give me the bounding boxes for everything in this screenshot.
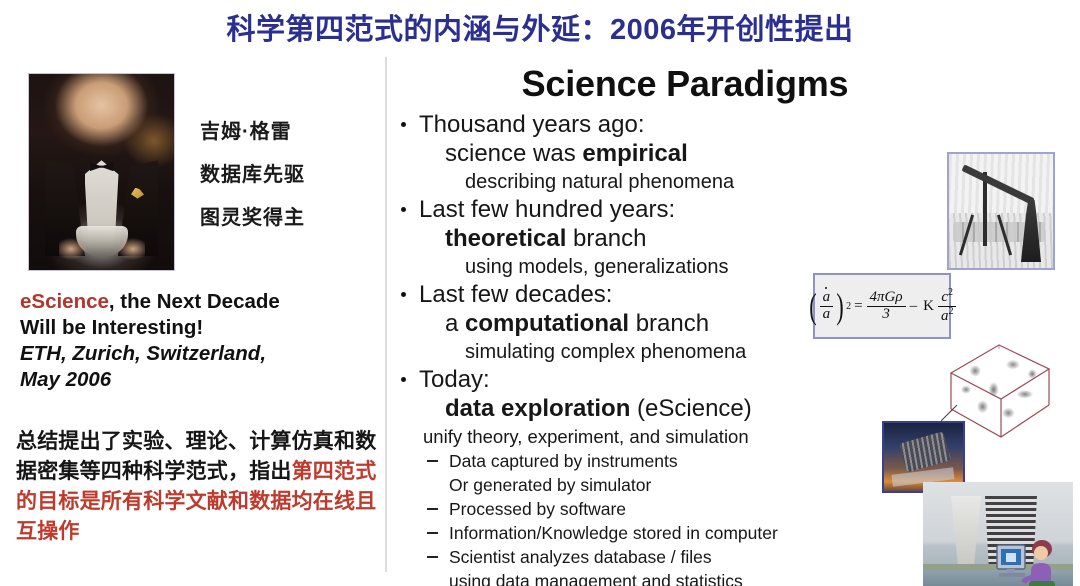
talk-date: May 2006 (20, 367, 380, 393)
dash-icon (427, 508, 438, 510)
equation-curvature-constant: K (923, 298, 934, 315)
left-column: 吉姆·格雷 数据库先驱 图灵奖得主 eScience, the Next Dec… (0, 57, 385, 586)
equation-rhs2-denominator: a2 (938, 307, 957, 324)
bullet-detail-keyword: computational (465, 310, 629, 337)
talk-title-line2: Will be Interesting! (20, 315, 380, 341)
bullet-lead: Last few hundred years: (419, 196, 675, 223)
equation-rhs1-denominator: 3 (879, 307, 893, 322)
bullet-dot-icon (401, 292, 406, 297)
summary-block: 总结提出了实验、理论、计算仿真和数据密集等四种科学范式，指出第四范式的目标是所有… (16, 427, 382, 547)
sub-bullet-item: Scientist analyzes database / files (393, 545, 863, 569)
equation-lhs-fraction: a a (820, 290, 834, 322)
equation-equals-sign: = (854, 298, 862, 315)
slide-canvas: 科学第四范式的内涵与外延：2006年开创性提出 吉姆·格雷 数据库先驱 图灵奖得… (0, 0, 1080, 586)
bullet-subdetail: using models, generalizations (393, 254, 863, 280)
escience-keyword: eScience (20, 290, 109, 313)
monitor-stand (1007, 569, 1015, 573)
bullet-detail: science was empirical (393, 139, 863, 169)
sub-bullet-item: Information/Knowledge stored in computer (393, 521, 863, 545)
sub-bullet-label: Scientist analyzes database / files (449, 547, 712, 567)
equation-paren-left: ( (809, 292, 816, 320)
bullet-detail: theoretical branch (393, 224, 863, 254)
bullet-detail-keyword: theoretical (445, 225, 566, 252)
screen-document-icon (1006, 553, 1016, 562)
sub-bullet-label: Information/Knowledge stored in computer (449, 523, 778, 543)
bullet-detail-keyword: empirical (582, 140, 687, 167)
jim-gray-portrait-photo (28, 73, 175, 271)
bullet-detail-post: (eScience) (630, 395, 751, 422)
equation-rhs-term1: 4πGρ 3 (867, 290, 906, 322)
person-face (1034, 546, 1048, 560)
bullet-item: Last few hundred years: (393, 195, 863, 224)
equation-formula: ( a a ) 2 = 4πGρ 3 – K c2 a2 (807, 288, 958, 324)
portrait-hands (59, 236, 145, 262)
bullet-lead: Thousand years ago: (419, 111, 644, 138)
keyboard-icon (999, 573, 1025, 577)
bullet-detail-pre: a (445, 310, 465, 337)
right-column: Science Paradigms Thousand years ago: sc… (385, 57, 1080, 586)
talk-title-line1: eScience, the Next Decade (20, 289, 380, 315)
bullet-item: Today: (393, 365, 863, 394)
historic-telescope-engraving-image (947, 152, 1055, 270)
talk-reference-block: eScience, the Next Decade Will be Intere… (20, 289, 380, 393)
paradigms-heading: Science Paradigms (385, 63, 985, 105)
bullet-subdetail: describing natural phenomena (393, 169, 863, 195)
building-tower-left (951, 496, 981, 574)
unify-line: unify theory, experiment, and simulation (393, 424, 863, 449)
sub-bullet-label: Processed by software (449, 499, 626, 519)
bullet-detail: a computational branch (393, 309, 863, 339)
bullet-detail-keyword: data exploration (445, 395, 630, 422)
caption-role: 数据库先驱 (200, 158, 305, 187)
bullet-detail-post: branch (566, 225, 646, 252)
dash-icon (427, 460, 438, 462)
bullet-detail-post: branch (629, 310, 709, 337)
page-title: 科学第四范式的内涵与外延：2006年开创性提出 (0, 6, 1080, 48)
bullet-dot-icon (401, 377, 406, 382)
talk-venue: ETH, Zurich, Switzerland, (20, 341, 380, 367)
chair-icon (1029, 581, 1055, 586)
sub-bullet-item: Processed by software (393, 497, 863, 521)
observatory-dome (899, 431, 951, 473)
caption-name: 吉姆·格雷 (200, 115, 292, 144)
bullet-subdetail: simulating complex phenomena (393, 339, 863, 365)
caption-award: 图灵奖得主 (200, 201, 305, 230)
equation-lhs-exponent: 2 (846, 301, 851, 312)
talk-title-line1-rest: , the Next Decade (109, 290, 280, 313)
bullet-item: Last few decades: (393, 280, 863, 309)
friedmann-equation-box: ( a a ) 2 = 4πGρ 3 – K c2 a2 (813, 273, 951, 339)
equation-rhs-term2: c2 a2 (938, 288, 957, 324)
bullet-lead: Last few decades: (419, 281, 612, 308)
equation-lhs-denominator: a (820, 307, 834, 322)
sub-bullet-continuation: using data management and statistics (393, 569, 863, 586)
paradigm-bullet-list: Thousand years ago: science was empirica… (393, 110, 863, 586)
bullet-dot-icon (401, 122, 406, 127)
person-at-computer-clipart (995, 537, 1059, 586)
dash-icon (427, 532, 438, 534)
equation-lhs-numerator: a (820, 290, 834, 306)
bullet-item: Thousand years ago: (393, 110, 863, 139)
equation-paren-right: ) (836, 292, 843, 320)
dash-icon (427, 556, 438, 558)
bullet-detail-pre: science was (445, 140, 582, 167)
bullet-detail: data exploration (eScience) (393, 394, 863, 424)
bullet-dot-icon (401, 207, 406, 212)
sub-bullet-item: Data captured by instruments (393, 449, 863, 473)
equation-rhs2-numerator: c2 (938, 288, 956, 306)
bullet-lead: Today: (419, 366, 490, 393)
sub-bullet-continuation: Or generated by simulator (393, 473, 863, 497)
sub-bullet-label: Data captured by instruments (449, 451, 678, 471)
equation-rhs1-numerator: 4πGρ (867, 290, 906, 306)
equation-minus-sign: – (910, 298, 918, 315)
